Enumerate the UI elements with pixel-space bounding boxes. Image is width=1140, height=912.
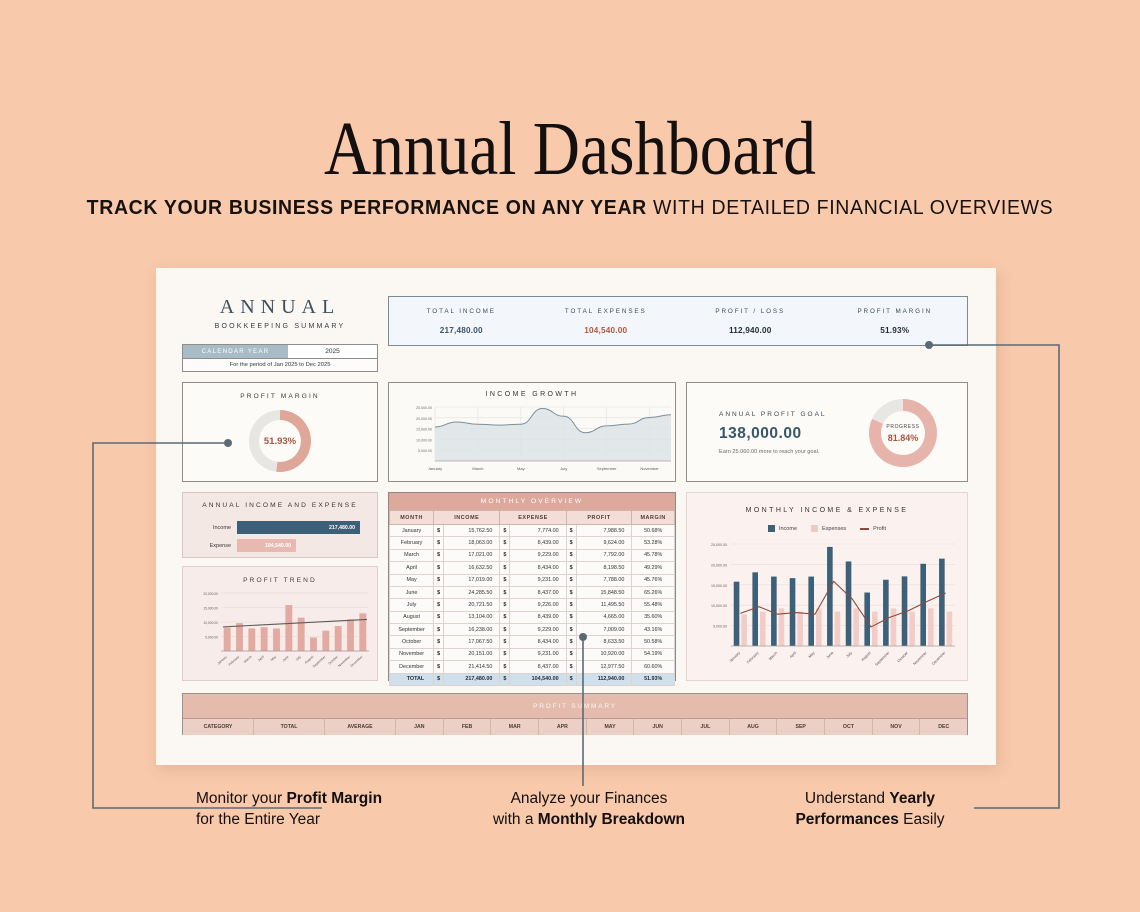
kpi-value: 51.93% (880, 326, 909, 335)
svg-text:5,000.00: 5,000.00 (205, 636, 218, 640)
svg-text:May: May (808, 651, 816, 659)
cell-month: October (390, 636, 434, 648)
cell-currency: $ (566, 525, 576, 537)
cell-margin: 54.19% (632, 648, 675, 660)
svg-text:January: January (428, 466, 442, 471)
cell-month: June (390, 586, 434, 598)
cell-currency: $ (500, 586, 510, 598)
svg-text:July: July (845, 651, 853, 659)
calendar-year-selector[interactable]: CALENDAR YEAR 2025 (182, 344, 378, 359)
cell-profit: 12,977.50 (576, 661, 632, 673)
table-col-profit: PROFIT (566, 511, 632, 525)
summary-col-jun: JUN (634, 719, 682, 735)
svg-text:July: July (560, 466, 567, 471)
summary-col-average: AVERAGE (325, 719, 396, 735)
kpi-label: TOTAL INCOME (427, 308, 496, 315)
legend-swatch-icon (768, 525, 775, 532)
cell-currency: $ (566, 574, 576, 586)
cell-margin: 35.60% (632, 611, 675, 623)
svg-text:25,000.00: 25,000.00 (711, 543, 727, 547)
monthly-income-expense-panel: MONTHLY INCOME & EXPENSE Income Expenses… (686, 492, 968, 681)
svg-text:June: June (282, 655, 290, 663)
monthly-overview-table: MONTHINCOMEEXPENSEPROFITMARGIN January$1… (389, 510, 675, 686)
annual-income-expense-panel: ANNUAL INCOME AND EXPENSE Income 217,480… (182, 492, 378, 558)
svg-text:February: February (746, 651, 760, 665)
svg-text:March: March (472, 466, 483, 471)
cell-income: 24,285.50 (444, 586, 500, 598)
table-header-row: MONTHINCOMEEXPENSEPROFITMARGIN (390, 511, 675, 525)
profit-summary-title: PROFIT SUMMARY (183, 694, 967, 718)
table-col-income: INCOME (434, 511, 500, 525)
svg-text:November: November (640, 466, 659, 471)
cell-margin: 65.26% (632, 586, 675, 598)
svg-text:September: September (312, 654, 327, 668)
cell-expense: 9,229.00 (510, 624, 566, 636)
cell-expense: 104,540.00 (510, 673, 566, 685)
summary-col-feb: FEB (444, 719, 492, 735)
table-col-month: MONTH (390, 511, 434, 525)
cell-currency: $ (566, 636, 576, 648)
cell-income: 20,721.50 (444, 599, 500, 611)
legend-line-icon (860, 528, 869, 530)
profit-trend-chart: 5,000.0010,000.0015,000.0020,000.00Janua… (183, 589, 379, 681)
subtitle-bold: TRACK YOUR BUSINESS PERFORMANCE ON ANY Y… (87, 196, 647, 219)
cell-profit: 8,633.50 (576, 636, 632, 648)
cell-currency: $ (434, 661, 444, 673)
cell-currency: $ (434, 636, 444, 648)
cell-currency: $ (566, 599, 576, 611)
kpi-total-expenses: TOTAL EXPENSES 104,540.00 (534, 297, 679, 345)
monthly-income-expense-chart: 5,000.0010,000.0015,000.0020,000.0025,00… (687, 538, 969, 681)
cell-expense: 9,226.00 (510, 599, 566, 611)
svg-text:15,000.00: 15,000.00 (416, 428, 432, 432)
summary-col-nov: NOV (873, 719, 921, 735)
caption-line1-bold: Profit Margin (286, 790, 382, 807)
cell-margin: 49.29% (632, 562, 675, 574)
cell-month: September (390, 624, 434, 636)
cell-expense: 8,439.00 (510, 611, 566, 623)
table-row: October$17,067.50$8,434.00$8,633.5050.58… (390, 636, 675, 648)
cell-currency: $ (434, 562, 444, 574)
kpi-profit-margin: PROFIT MARGIN 51.93% (823, 297, 968, 345)
profit-margin-title: PROFIT MARGIN (183, 393, 377, 400)
caption-line2-plain: with a (493, 811, 538, 828)
cell-currency: $ (500, 525, 510, 537)
cell-profit: 11,495.50 (576, 599, 632, 611)
cell-income: 20,151.00 (444, 648, 500, 660)
cell-margin: 53.28% (632, 537, 675, 549)
cell-income: 18,063.00 (444, 537, 500, 549)
svg-text:June: June (826, 651, 835, 660)
summary-col-oct: OCT (825, 719, 873, 735)
caption-line2-bold: Performances (795, 811, 898, 828)
expense-bar-value: 104,540.00 (265, 543, 291, 549)
profit-margin-panel: PROFIT MARGIN 51.93% (182, 382, 378, 482)
cell-currency: $ (566, 673, 576, 685)
cell-income: 217,480.00 (444, 673, 500, 685)
expense-bar: 104,540.00 (237, 539, 296, 552)
svg-text:10,000.00: 10,000.00 (416, 438, 432, 442)
caption-line1-bold: Yearly (889, 790, 935, 807)
cell-profit: 9,624.00 (576, 537, 632, 549)
cell-currency: $ (434, 574, 444, 586)
cell-income: 15,762.50 (444, 525, 500, 537)
svg-text:July: July (295, 655, 302, 662)
kpi-value: 217,480.00 (440, 326, 483, 335)
svg-text:January: January (729, 651, 741, 663)
cell-currency: $ (434, 648, 444, 660)
table-col-margin: MARGIN (632, 511, 675, 525)
svg-text:August: August (304, 655, 314, 665)
cell-expense: 8,437.00 (510, 586, 566, 598)
cell-expense: 7,774.00 (510, 525, 566, 537)
cell-currency: $ (566, 661, 576, 673)
cell-currency: $ (566, 648, 576, 660)
legend-label: Expenses (822, 526, 846, 532)
svg-text:September: September (597, 466, 617, 471)
cell-month: August (390, 611, 434, 623)
kpi-label: TOTAL EXPENSES (565, 308, 647, 315)
table-row: April$16,632.50$8,434.00$8,198.5049.29% (390, 562, 675, 574)
summary-col-jul: JUL (682, 719, 730, 735)
cell-profit: 7,009.00 (576, 624, 632, 636)
cell-currency: $ (566, 549, 576, 561)
table-row: December$21,414.50$8,437.00$12,977.5060.… (390, 661, 675, 673)
cell-currency: $ (500, 549, 510, 561)
table-row: September$16,238.00$9,229.00$7,009.0043.… (390, 624, 675, 636)
caption-line2-bold: Monthly Breakdown (538, 811, 685, 828)
summary-col-apr: APR (539, 719, 587, 735)
legend-label: Profit (873, 526, 886, 532)
svg-text:May: May (517, 466, 525, 471)
chart-legend: Income Expenses Profit (687, 525, 967, 532)
svg-text:20,000.00: 20,000.00 (711, 563, 727, 567)
caption-line1-plain: Monitor your (196, 790, 286, 807)
cell-currency: $ (434, 611, 444, 623)
cell-month: July (390, 599, 434, 611)
svg-text:15,000.00: 15,000.00 (711, 584, 727, 588)
table-row: March$17,021.00$9,229.00$7,792.0045.78% (390, 549, 675, 561)
cell-profit: 4,665.00 (576, 611, 632, 623)
cell-currency: $ (500, 611, 510, 623)
kpi-label: PROFIT / LOSS (715, 308, 785, 315)
svg-text:20,000.00: 20,000.00 (416, 417, 432, 421)
cell-expense: 9,231.00 (510, 648, 566, 660)
svg-text:10,000.00: 10,000.00 (711, 604, 727, 608)
table-col-expense: EXPENSE (500, 511, 566, 525)
table-body: January$15,762.50$7,774.00$7,988.5050.68… (390, 525, 675, 686)
annual-income-expense-title: ANNUAL INCOME AND EXPENSE (183, 502, 377, 509)
svg-text:February: February (228, 655, 241, 667)
summary-col-aug: AUG (730, 719, 778, 735)
table-row: July$20,721.50$9,226.00$11,495.5055.48% (390, 599, 675, 611)
summary-col-total: TOTAL (254, 719, 325, 735)
goal-label: ANNUAL PROFIT GOAL (719, 411, 827, 418)
cell-profit: 10,920.00 (576, 648, 632, 660)
cell-currency: $ (434, 537, 444, 549)
cell-currency: $ (500, 673, 510, 685)
cell-month: December (390, 661, 434, 673)
caption-line2-plain: for the Entire Year (196, 811, 320, 828)
cell-currency: $ (500, 624, 510, 636)
svg-text:March: March (243, 655, 253, 664)
cell-income: 17,067.50 (444, 636, 500, 648)
monthly-overview-title: MONTHLY OVERVIEW (389, 493, 675, 510)
expense-bar-row: Expense 104,540.00 (197, 539, 296, 552)
svg-text:10,000.00: 10,000.00 (203, 621, 218, 625)
svg-text:November: November (912, 650, 928, 666)
goal-note: Earn 25.060.00 more to reach your goal. (719, 449, 819, 455)
progress-value: 81.84% (888, 433, 919, 443)
cell-month: November (390, 648, 434, 660)
cell-profit: 15,848.50 (576, 586, 632, 598)
cell-income: 21,414.50 (444, 661, 500, 673)
svg-text:August: August (861, 650, 873, 662)
cell-expense: 9,229.00 (510, 549, 566, 561)
cell-profit: 112,940.00 (576, 673, 632, 685)
cell-income: 13,104.00 (444, 611, 500, 623)
svg-text:5,000.00: 5,000.00 (418, 449, 432, 453)
page-subtitle: TRACK YOUR BUSINESS PERFORMANCE ON ANY Y… (29, 196, 1112, 220)
profit-summary-columns: CATEGORYTOTALAVERAGEJANFEBMARAPRMAYJUNJU… (183, 718, 967, 735)
income-growth-panel: INCOME GROWTH 5,000.0010,000.0015,000.00… (388, 382, 676, 482)
goal-value: 138,000.00 (719, 425, 802, 443)
cell-currency: $ (566, 562, 576, 574)
cell-margin: 45.78% (632, 549, 675, 561)
cell-currency: $ (566, 586, 576, 598)
profit-summary-panel: PROFIT SUMMARY CATEGORYTOTALAVERAGEJANFE… (182, 693, 968, 735)
annual-profit-goal-panel: ANNUAL PROFIT GOAL 138,000.00 Earn 25.06… (686, 382, 968, 482)
cell-currency: $ (434, 549, 444, 561)
cell-margin: 43.16% (632, 624, 675, 636)
table-row: June$24,285.50$8,437.00$15,848.5065.26% (390, 586, 675, 598)
income-bar: 217,480.00 (237, 521, 360, 534)
caption-line1-plain: Understand (805, 790, 889, 807)
legend-label: Income (779, 526, 797, 532)
svg-text:20,000.00: 20,000.00 (203, 592, 218, 596)
cell-profit: 7,988.50 (576, 525, 632, 537)
calendar-year-label: CALENDAR YEAR (183, 345, 288, 358)
cell-expense: 8,434.00 (510, 636, 566, 648)
table-row: May$17,019.00$9,231.00$7,788.0045.76% (390, 574, 675, 586)
cell-margin: 60.60% (632, 661, 675, 673)
cell-month: March (390, 549, 434, 561)
cell-currency: $ (500, 648, 510, 660)
page-title: Annual Dashboard (80, 106, 1060, 193)
cell-currency: $ (500, 599, 510, 611)
cell-margin: 50.68% (632, 525, 675, 537)
kpi-value: 112,940.00 (729, 326, 772, 335)
legend-item-profit: Profit (860, 525, 886, 532)
svg-text:January: January (216, 655, 228, 666)
period-text: For the period of Jan 2025 to Dec 2025 (182, 359, 378, 372)
brand-title: ANNUAL (182, 296, 378, 319)
svg-text:15,000.00: 15,000.00 (203, 607, 218, 611)
cell-month: TOTAL (390, 673, 434, 685)
progress-label: PROGRESS (886, 424, 919, 430)
svg-text:October: October (897, 650, 910, 663)
cell-month: April (390, 562, 434, 574)
progress-donut: PROGRESS 81.84% (869, 399, 937, 467)
svg-text:September: September (874, 650, 890, 666)
income-growth-title: INCOME GROWTH (389, 391, 675, 398)
cell-expense: 8,434.00 (510, 562, 566, 574)
caption-monthly-breakdown: Analyze your Finances with a Monthly Bre… (474, 788, 704, 831)
cell-margin: 55.48% (632, 599, 675, 611)
income-growth-chart: 5,000.0010,000.0015,000.0020,000.0025,00… (389, 401, 677, 479)
cell-expense: 8,437.00 (510, 661, 566, 673)
cell-expense: 8,439.00 (510, 537, 566, 549)
cell-profit: 7,792.00 (576, 549, 632, 561)
legend-item-expenses: Expenses (811, 525, 846, 532)
cell-income: 17,019.00 (444, 574, 500, 586)
summary-col-jan: JAN (396, 719, 444, 735)
income-bar-value: 217,480.00 (329, 525, 355, 531)
cell-margin: 51.93% (632, 673, 675, 685)
income-bar-row: Income 217,480.00 (197, 521, 360, 534)
legend-swatch-icon (811, 525, 818, 532)
cell-currency: $ (566, 611, 576, 623)
cell-currency: $ (434, 599, 444, 611)
cell-currency: $ (434, 624, 444, 636)
profit-margin-donut-value: 51.93% (264, 436, 296, 447)
monthly-overview-panel: MONTHLY OVERVIEW MONTHINCOMEEXPENSEPROFI… (388, 492, 676, 681)
expense-bar-label: Expense (197, 543, 231, 549)
cell-month: February (390, 537, 434, 549)
cell-expense: 9,231.00 (510, 574, 566, 586)
caption-line1-plain: Analyze your Finances (511, 790, 668, 807)
cell-currency: $ (500, 636, 510, 648)
svg-text:March: March (768, 651, 778, 661)
svg-text:5,000.00: 5,000.00 (713, 625, 727, 629)
table-row: TOTAL$217,480.00$104,540.00$112,940.0051… (390, 673, 675, 685)
calendar-year-value[interactable]: 2025 (288, 345, 377, 358)
summary-col-sep: SEP (777, 719, 825, 735)
summary-col-dec: DEC (920, 719, 967, 735)
cell-currency: $ (500, 537, 510, 549)
svg-text:25,000.00: 25,000.00 (416, 406, 432, 410)
cell-margin: 45.76% (632, 574, 675, 586)
svg-text:April: April (789, 651, 797, 659)
kpi-total-income: TOTAL INCOME 217,480.00 (389, 297, 534, 345)
kpi-value: 104,540.00 (584, 326, 627, 335)
table-row: August$13,104.00$8,439.00$4,665.0035.60% (390, 611, 675, 623)
table-row: February$18,063.00$8,439.00$9,624.0053.2… (390, 537, 675, 549)
svg-text:December: December (931, 650, 947, 666)
caption-profit-margin: Monitor your Profit Margin for the Entir… (196, 788, 382, 831)
legend-item-income: Income (768, 525, 797, 532)
summary-col-mar: MAR (491, 719, 539, 735)
cell-currency: $ (566, 537, 576, 549)
cell-currency: $ (434, 525, 444, 537)
cell-month: May (390, 574, 434, 586)
cell-income: 17,021.00 (444, 549, 500, 561)
dashboard-canvas: ANNUAL BOOKKEEPING SUMMARY CALENDAR YEAR… (156, 268, 996, 765)
caption-line2-plain: Easily (899, 811, 945, 828)
kpi-strip: TOTAL INCOME 217,480.00 TOTAL EXPENSES 1… (388, 296, 968, 346)
cell-month: January (390, 525, 434, 537)
cell-currency: $ (434, 586, 444, 598)
cell-income: 16,238.00 (444, 624, 500, 636)
svg-text:December: December (350, 654, 365, 668)
svg-text:April: April (257, 655, 265, 663)
kpi-label: PROFIT MARGIN (857, 308, 932, 315)
cell-currency: $ (500, 574, 510, 586)
income-bar-label: Income (197, 525, 231, 531)
profit-margin-donut: 51.93% (249, 410, 311, 472)
cell-margin: 50.58% (632, 636, 675, 648)
cell-profit: 7,788.00 (576, 574, 632, 586)
summary-col-category: CATEGORY (183, 719, 254, 735)
cell-currency: $ (500, 661, 510, 673)
cell-profit: 8,198.50 (576, 562, 632, 574)
monthly-income-expense-title: MONTHLY INCOME & EXPENSE (687, 507, 967, 514)
profit-trend-panel: PROFIT TREND 5,000.0010,000.0015,000.002… (182, 566, 378, 681)
table-row: January$15,762.50$7,774.00$7,988.5050.68… (390, 525, 675, 537)
cell-currency: $ (500, 562, 510, 574)
profit-trend-title: PROFIT TREND (183, 577, 377, 584)
svg-text:May: May (270, 655, 278, 662)
cell-currency: $ (434, 673, 444, 685)
subtitle-light: WITH DETAILED FINANCIAL OVERVIEWS (647, 196, 1053, 219)
table-row: November$20,151.00$9,231.00$10,920.0054.… (390, 648, 675, 660)
cell-currency: $ (566, 624, 576, 636)
summary-col-may: MAY (587, 719, 635, 735)
caption-yearly-performance: Understand Yearly Performances Easily (775, 788, 965, 831)
brand-subtitle: BOOKKEEPING SUMMARY (182, 323, 378, 330)
cell-income: 16,632.50 (444, 562, 500, 574)
kpi-profit-loss: PROFIT / LOSS 112,940.00 (678, 297, 823, 345)
